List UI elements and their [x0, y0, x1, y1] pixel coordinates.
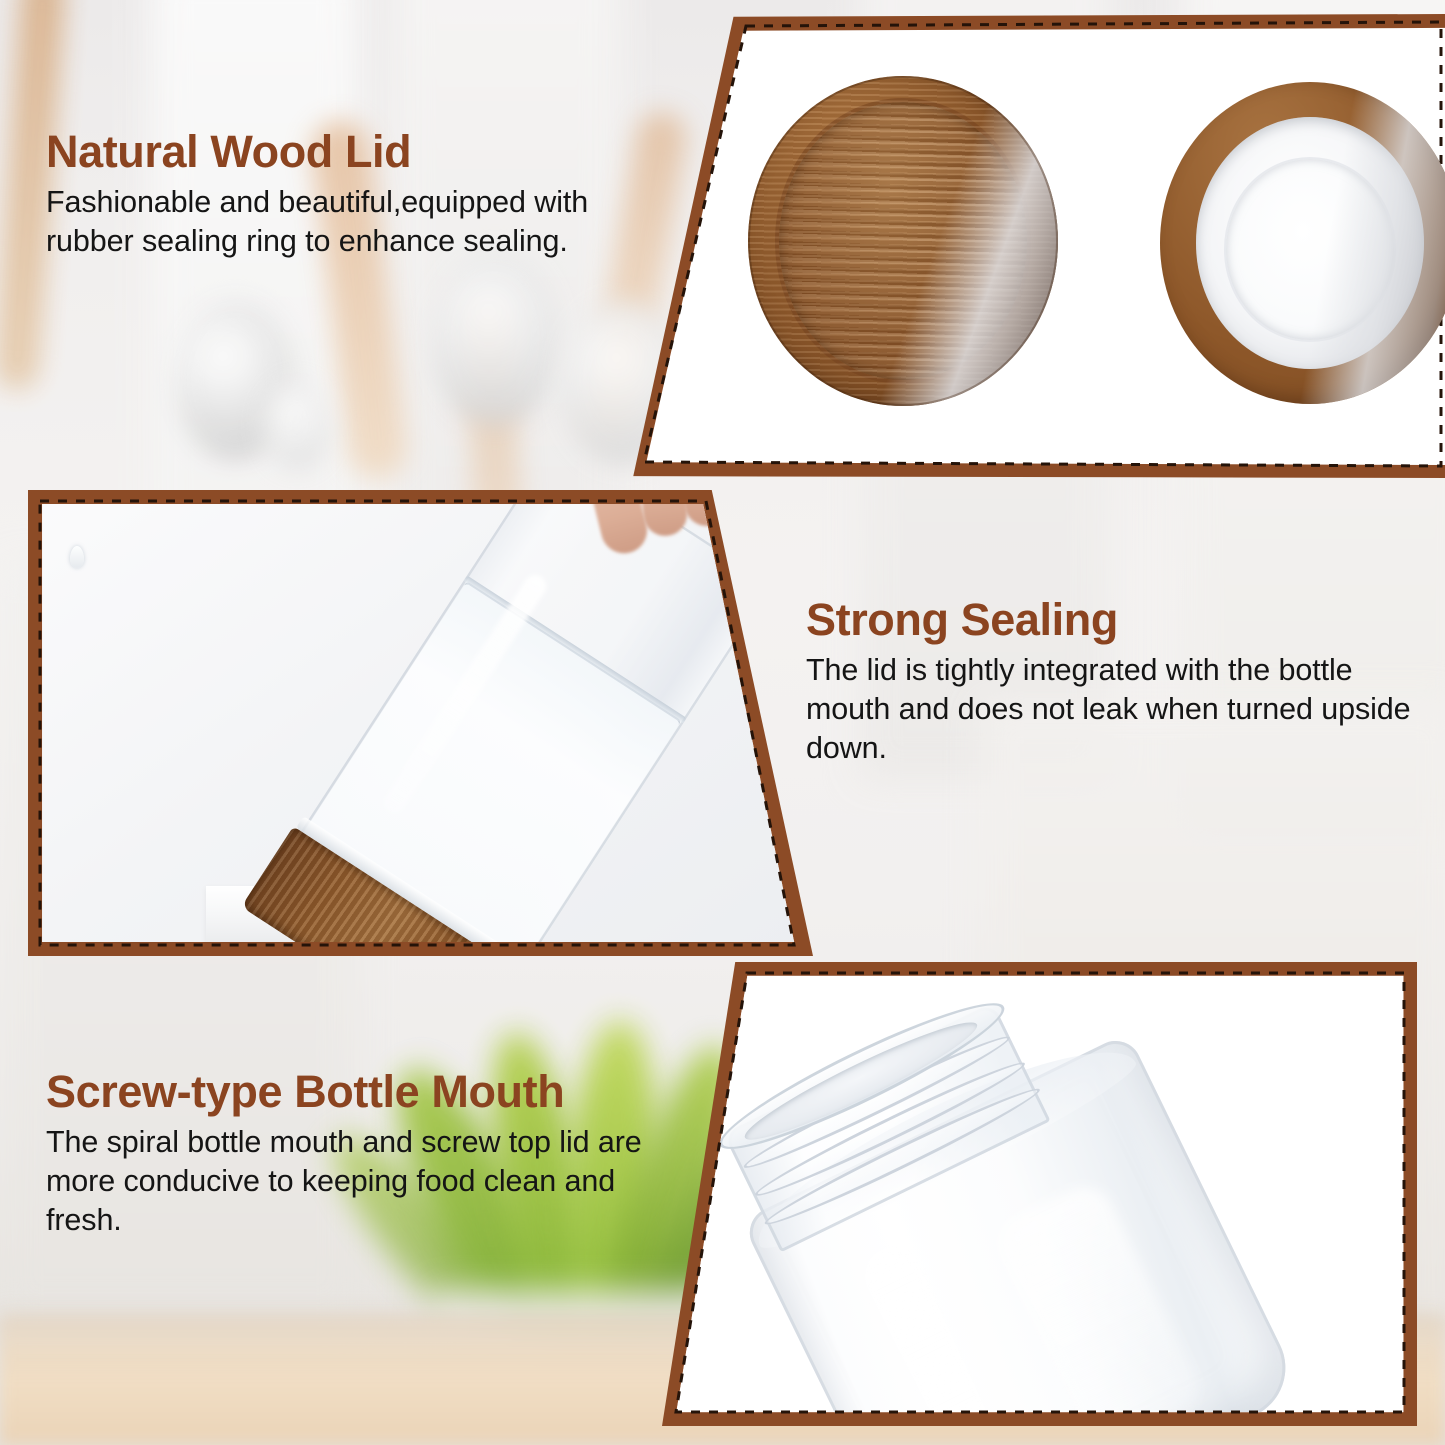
wood-lid-photo	[630, 14, 1445, 478]
feature-description: The lid is tightly integrated with the b…	[806, 651, 1426, 768]
infographic-canvas: Natural Wood Lid Fashionable and beautif…	[0, 0, 1445, 1445]
water-drop	[70, 546, 84, 568]
finger	[584, 490, 652, 558]
glass-jar	[701, 962, 1294, 1426]
feature-photo-panel-strong-sealing	[28, 490, 813, 956]
feature-text-strong-sealing: Strong Sealing The lid is tightly integr…	[806, 596, 1426, 768]
tilted-bottle-photo	[28, 490, 813, 956]
jar-mouth-photo	[662, 962, 1417, 1426]
feature-title: Natural Wood Lid	[46, 128, 671, 177]
metal-spoon-bowl	[262, 380, 332, 470]
feature-text-screw-type-bottle-mouth: Screw-type Bottle Mouth The spiral bottl…	[46, 1068, 686, 1240]
feature-text-natural-wood-lid: Natural Wood Lid Fashionable and beautif…	[46, 128, 671, 261]
feature-photo-panel-natural-wood-lid	[630, 14, 1445, 478]
photo-backdrop	[662, 962, 1417, 1426]
feature-title: Screw-type Bottle Mouth	[46, 1068, 686, 1117]
feature-description: Fashionable and beautiful,equipped with …	[46, 183, 671, 261]
photo-backdrop	[28, 490, 813, 956]
panel-photo-surface	[28, 490, 813, 956]
feature-title: Strong Sealing	[806, 596, 1426, 645]
feature-description: The spiral bottle mouth and screw top li…	[46, 1123, 686, 1240]
feature-photo-panel-screw-type-bottle-mouth	[662, 962, 1417, 1426]
wood-lid-underside-rim-sheen	[1160, 82, 1445, 404]
metal-spoon-bowl	[430, 250, 560, 425]
panel-photo-surface	[662, 962, 1417, 1426]
wood-lid-top-rim-sheen	[748, 76, 1058, 406]
